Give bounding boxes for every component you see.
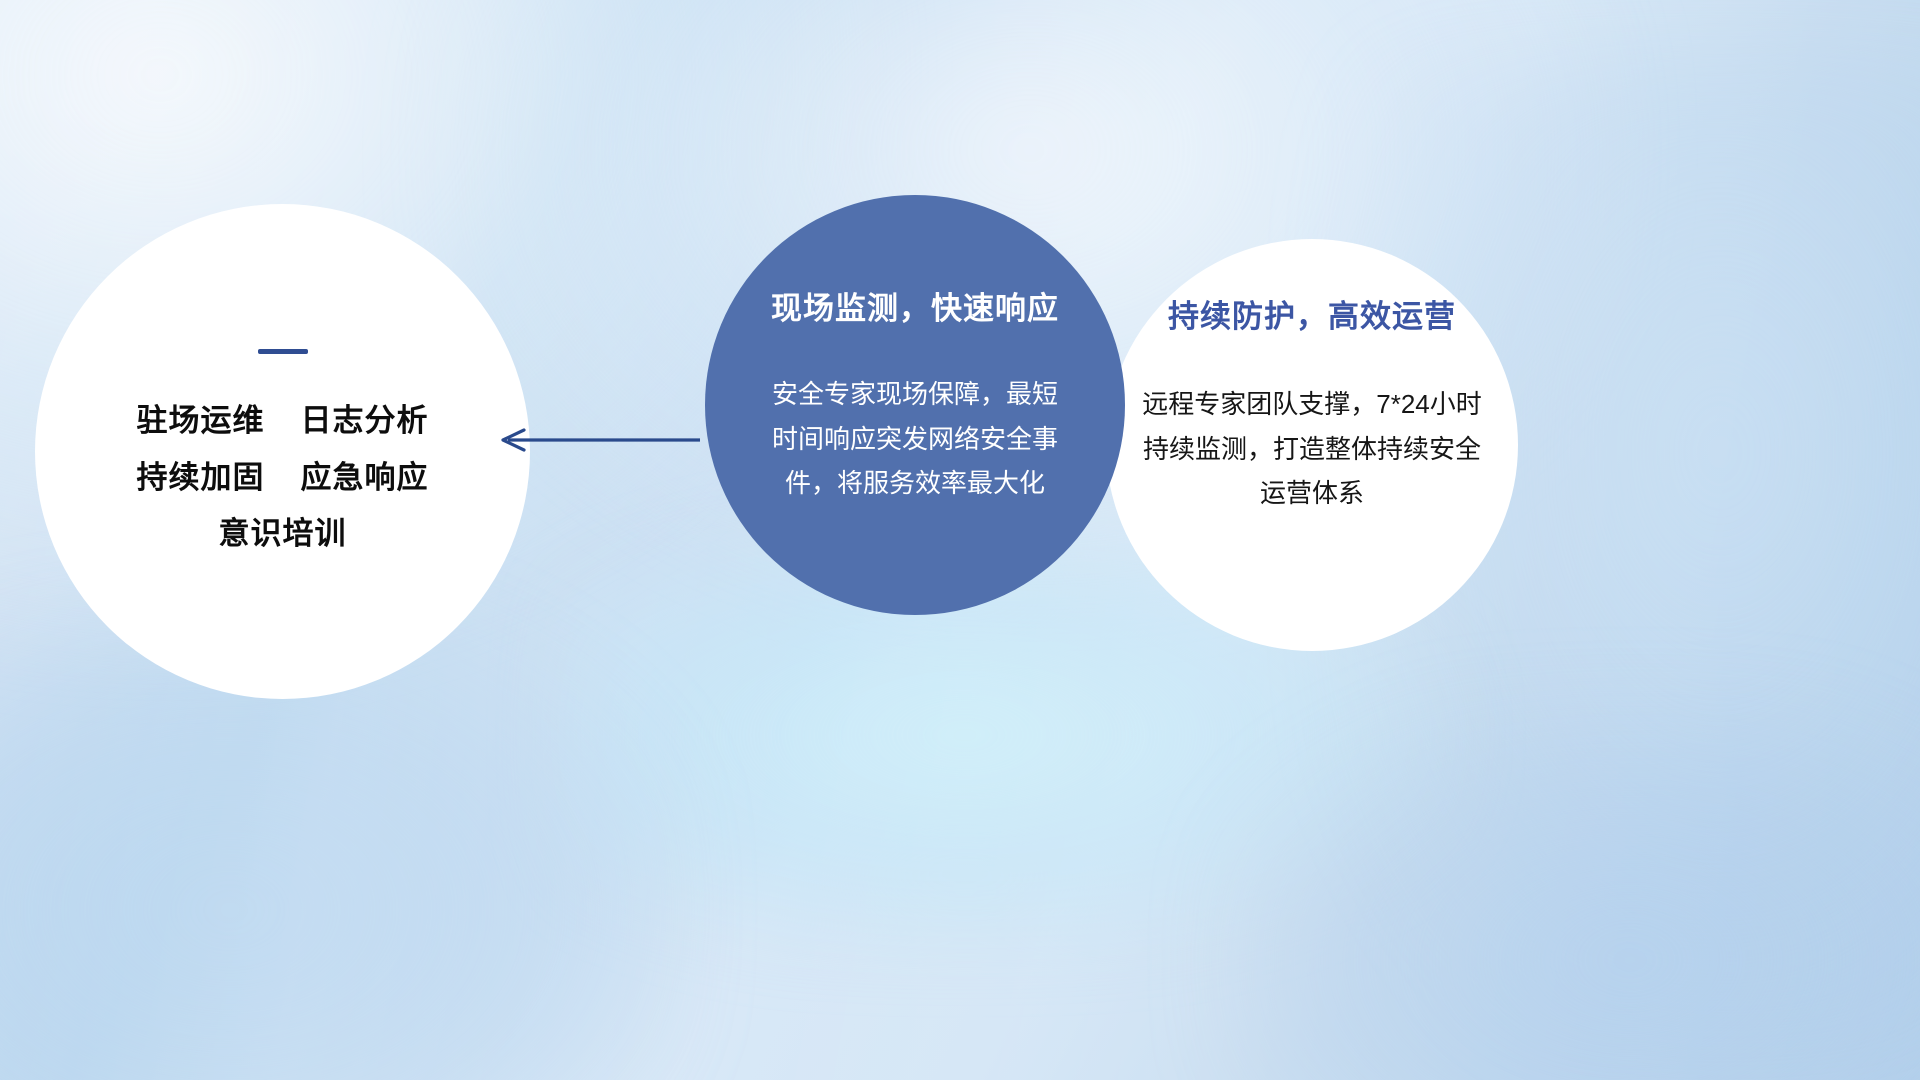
- capability-item: 意识培训: [219, 515, 347, 554]
- capability-item: 日志分析: [301, 402, 429, 441]
- capability-list-circle: 驻场运维 日志分析 持续加固 应急响应 意识培训: [35, 204, 530, 699]
- diagram-canvas: 驻场运维 日志分析 持续加固 应急响应 意识培训 持续防护，高效运营 远程专家团…: [0, 0, 1920, 1080]
- horizontal-dash-icon: [258, 349, 308, 354]
- capability-row: 驻场运维 日志分析: [137, 402, 429, 441]
- capability-list: 驻场运维 日志分析 持续加固 应急响应 意识培训: [137, 402, 429, 554]
- capability-row: 意识培训: [219, 515, 347, 554]
- capability-item: 驻场运维: [137, 402, 265, 441]
- capability-row: 持续加固 应急响应: [137, 459, 429, 498]
- onsite-monitoring-circle: 现场监测，快速响应 安全专家现场保障，最短时间响应突发网络安全事件，将服务效率最…: [705, 195, 1125, 615]
- capability-item: 应急响应: [301, 459, 429, 498]
- capability-item: 持续加固: [137, 459, 265, 498]
- card-title: 持续防护，高效运营: [1168, 291, 1456, 336]
- card-title: 现场监测，快速响应: [771, 283, 1059, 328]
- card-body: 安全专家现场保障，最短时间响应突发网络安全事件，将服务效率最大化: [772, 372, 1058, 506]
- card-body: 远程专家团队支撑，7*24小时持续监测，打造整体持续安全运营体系: [1136, 382, 1488, 516]
- continuous-protection-circle: 持续防护，高效运营 远程专家团队支撑，7*24小时持续监测，打造整体持续安全运营…: [1106, 239, 1518, 651]
